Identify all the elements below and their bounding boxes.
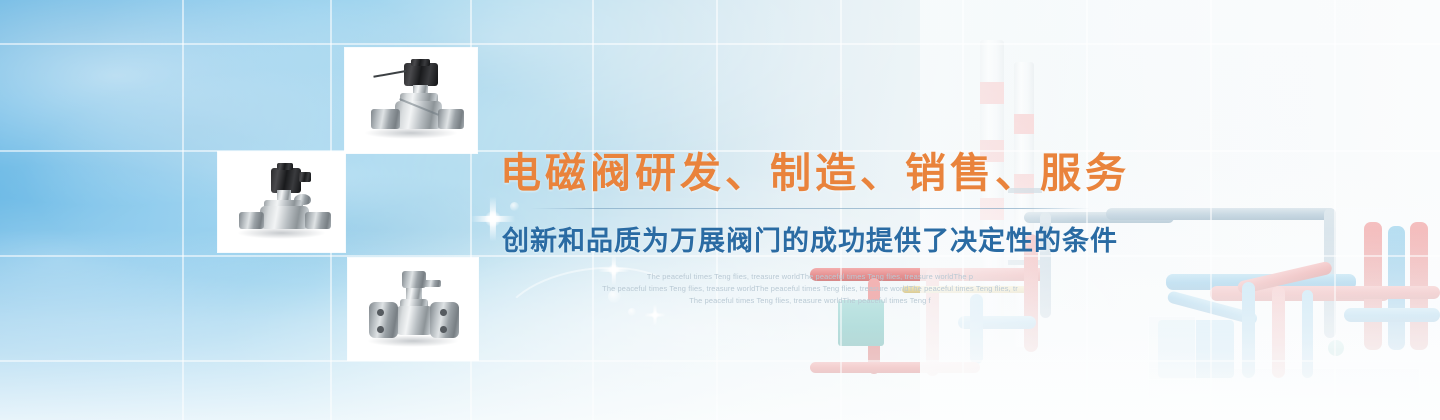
valve-lead-wire <box>374 70 407 77</box>
product-card-3[interactable] <box>348 258 478 360</box>
grid-line-horizontal <box>0 43 1440 45</box>
valve-port-left <box>239 212 265 229</box>
solenoid-valve-angled-coil <box>228 160 335 244</box>
valve-coil-cap <box>277 163 293 170</box>
blurb-line-1: The peaceful times Teng flies, treasure … <box>500 271 1120 283</box>
valve-coil <box>404 63 437 86</box>
valve-port-right <box>438 109 465 128</box>
valve-coil <box>271 168 301 193</box>
flange-bolt-hole <box>440 326 447 333</box>
banner-headline: 电磁阀研发、制造、销售、服务 <box>500 148 1120 199</box>
valve-actuator <box>402 271 426 288</box>
hero-banner: 电磁阀研发、制造、销售、服务 创新和品质为万展阀门的成功提供了决定性的条件 Th… <box>0 0 1440 420</box>
flange-bolt-hole <box>377 309 384 316</box>
valve-coil-connector <box>299 172 312 182</box>
banner-subheadline: 创新和品质为万展阀门的成功提供了决定性的条件 <box>500 219 1120 258</box>
valve-port-left <box>371 109 400 128</box>
blurb-line-2: The peaceful times Teng flies, treasure … <box>500 283 1120 295</box>
valve-flange-left <box>369 302 397 338</box>
flange-bolt-hole <box>440 309 447 316</box>
product-card-1[interactable] <box>345 48 477 153</box>
valve-body <box>260 206 309 229</box>
headline-divider <box>530 208 1090 209</box>
flange-bolt-hole <box>377 326 384 333</box>
valve-coil-cap <box>411 59 430 66</box>
solenoid-valve-threaded-inline <box>356 56 467 144</box>
valve-actuator-nipple <box>424 280 441 287</box>
product-card-2[interactable] <box>218 152 345 252</box>
banner-copy: 电磁阀研发、制造、销售、服务 创新和品质为万展阀门的成功提供了决定性的条件 Th… <box>500 148 1120 307</box>
valve-body <box>396 306 433 335</box>
solenoid-valve-flanged <box>358 266 467 352</box>
blurb-line-3: The peaceful times Teng flies, treasure … <box>500 295 1120 307</box>
valve-port-right <box>305 212 331 229</box>
banner-blurb: The peaceful times Teng flies, treasure … <box>500 271 1120 307</box>
